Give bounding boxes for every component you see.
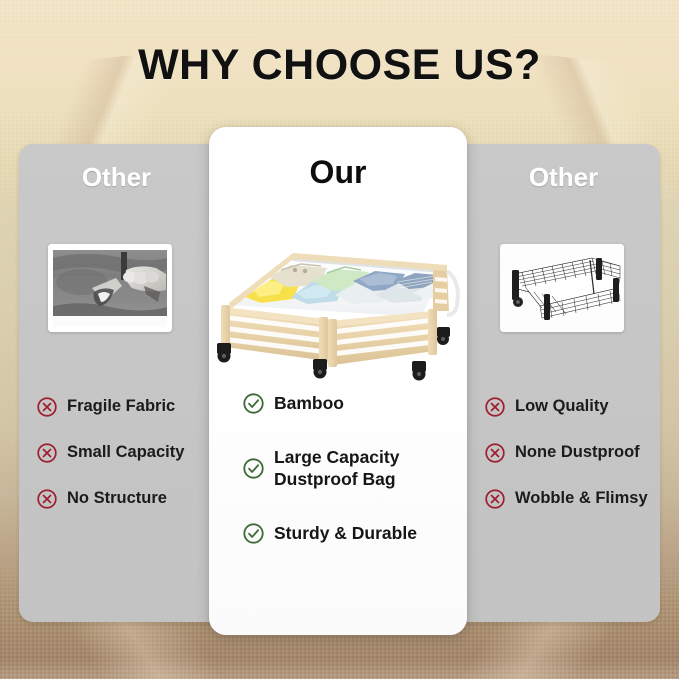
check-circle-icon [242, 522, 265, 545]
feature-item: Low Quality [484, 396, 679, 418]
feature-label: No Structure [67, 488, 167, 509]
feature-item: Fragile Fabric [36, 396, 236, 418]
feature-item: None Dustproof [484, 442, 679, 464]
feature-label: Low Quality [515, 396, 609, 417]
feature-item: Wobble & Flimsy [484, 488, 679, 510]
feature-item: Sturdy & Durable [242, 522, 452, 545]
product-image-left [48, 244, 172, 332]
feature-item: Small Capacity [36, 442, 236, 464]
comparison-panel-center: Our [209, 127, 467, 635]
page-title: WHY CHOOSE US? [0, 41, 679, 90]
infographic-root: WHY CHOOSE US? Other [0, 0, 679, 679]
cross-circle-icon [484, 488, 506, 510]
feature-label: Large Capacity Dustproof Bag [274, 446, 399, 491]
cross-circle-icon [36, 442, 58, 464]
feature-list-center: Bamboo Large Capacity Dustproof Bag Stur… [242, 392, 452, 545]
feature-label: Fragile Fabric [67, 396, 175, 417]
wire-mesh-basket-photo [500, 244, 624, 332]
feature-label: Sturdy & Durable [274, 522, 417, 544]
panel-heading-center: Our [209, 154, 467, 191]
fragile-fabric-bag-photo [48, 244, 172, 332]
product-image-right [500, 244, 624, 332]
cross-circle-icon [36, 488, 58, 510]
feature-label: None Dustproof [515, 442, 640, 463]
feature-item: No Structure [36, 488, 236, 510]
feature-list-left: Fragile Fabric Small Capacity No Structu… [36, 396, 236, 510]
feature-label: Wobble & Flimsy [515, 488, 648, 509]
feature-label: Bamboo [274, 392, 344, 414]
check-circle-icon [242, 392, 265, 415]
cross-circle-icon [484, 442, 506, 464]
check-circle-icon [242, 457, 265, 480]
feature-item: Large Capacity Dustproof Bag [242, 446, 452, 491]
feature-list-right: Low Quality None Dustproof Wobble & Flim… [484, 396, 679, 510]
bamboo-rolling-under-bed-storage-cart-photo [209, 219, 467, 399]
feature-item: Bamboo [242, 392, 452, 415]
feature-label: Small Capacity [67, 442, 184, 463]
cross-circle-icon [484, 396, 506, 418]
cross-circle-icon [36, 396, 58, 418]
